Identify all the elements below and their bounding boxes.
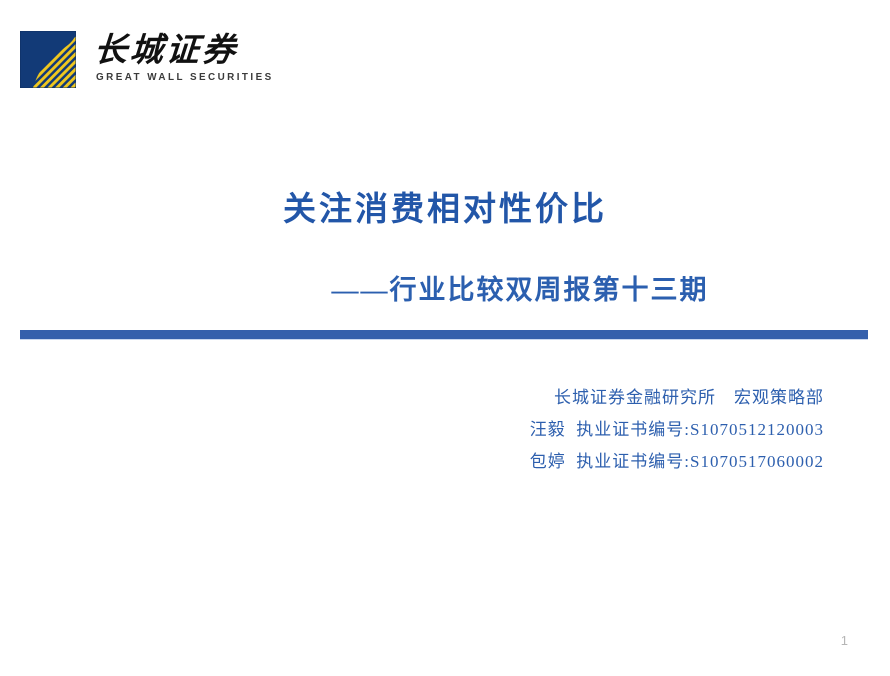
brand-logo: 长城证券 GREAT WALL SECURITIES (20, 31, 250, 91)
analyst-line-1: 汪毅 执业证书编号:S1070512120003 (0, 414, 824, 446)
department-label: 长城证券金融研究所 (554, 388, 716, 407)
analyst-1-cert-label: 执业证书编号: (576, 420, 690, 439)
author-block: 长城证券金融研究所宏观策略部 汪毅 执业证书编号:S1070512120003 … (0, 382, 890, 478)
analyst-1-name: 汪毅 (530, 420, 566, 439)
team-label: 宏观策略部 (734, 388, 824, 407)
author-department-line: 长城证券金融研究所宏观策略部 (0, 382, 824, 414)
analyst-line-2: 包婷 执业证书编号:S1070517060002 (0, 446, 824, 478)
analyst-2-cert-code: S1070517060002 (690, 452, 824, 471)
brand-wordmark: 长城证券 GREAT WALL SECURITIES (82, 29, 254, 91)
brand-name-cn: 长城证券 (92, 29, 239, 73)
title-divider-rule (20, 330, 868, 340)
slide-title: 关注消费相对性价比 (0, 182, 890, 230)
analyst-2-cert-label: 执业证书编号: (576, 452, 690, 471)
slide-subtitle: ——行业比较双周报第十三期 (0, 268, 890, 307)
analyst-2-name: 包婷 (530, 452, 566, 471)
page-number: 1 (841, 633, 848, 648)
brand-name-en: GREAT WALL SECURITIES (96, 71, 274, 83)
great-wall-securities-logo-mark (20, 31, 76, 88)
analyst-1-cert-code: S1070512120003 (690, 420, 824, 439)
